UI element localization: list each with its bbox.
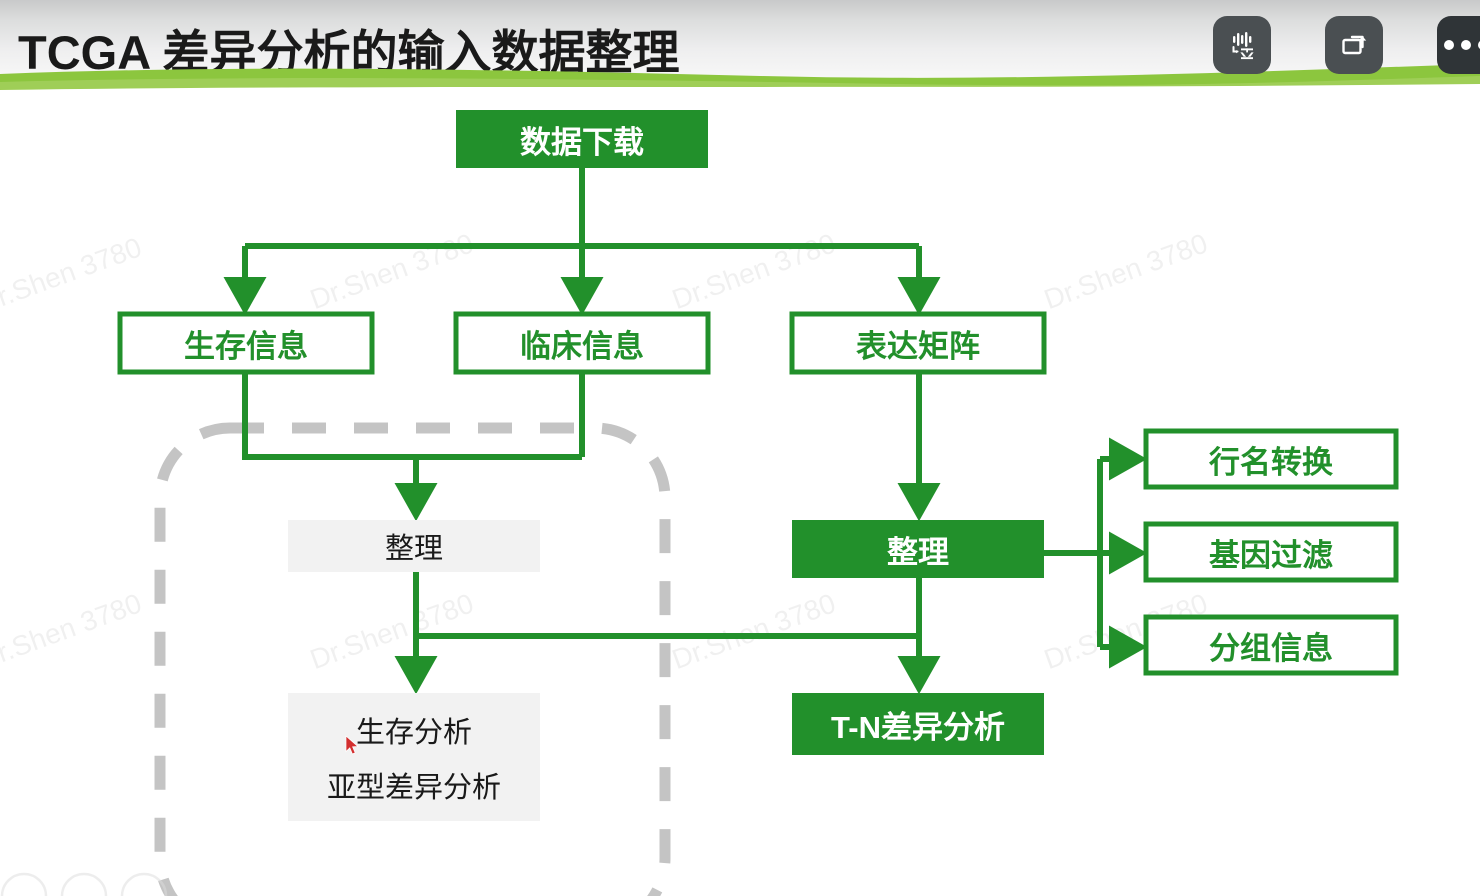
flowchart-diagram <box>0 90 1480 896</box>
node-expr-matrix-box <box>792 314 1044 372</box>
node-survival-info-box <box>120 314 372 372</box>
more-options-button[interactable] <box>1437 16 1480 74</box>
slide-canvas: Dr.Shen 3780 Dr.Shen 3780 Dr.Shen 3780 D… <box>0 90 1480 896</box>
edge-survival-to-merge <box>245 372 582 457</box>
voice-to-text-button[interactable] <box>1213 16 1271 74</box>
voice-to-text-icon <box>1225 28 1259 62</box>
node-download-box <box>456 110 708 168</box>
node-group-info-box <box>1146 617 1396 673</box>
group-region-dashed <box>160 428 665 896</box>
more-dots-icon <box>1444 40 1480 50</box>
picture-in-picture-icon <box>1338 29 1370 61</box>
node-tn-diff-box <box>792 693 1044 755</box>
picture-in-picture-button[interactable] <box>1325 16 1383 74</box>
node-rowname-conv-box <box>1146 431 1396 487</box>
node-gene-filter-box <box>1146 524 1396 580</box>
node-clinical-info-box <box>456 314 708 372</box>
node-tidy-left-box <box>288 520 540 572</box>
page-title: TCGA 差异分析的输入数据整理 <box>18 14 679 83</box>
node-tidy-right-box <box>792 520 1044 578</box>
node-survival-sub-box <box>288 693 540 821</box>
app-header: TCGA 差异分析的输入数据整理 <box>0 0 1480 90</box>
